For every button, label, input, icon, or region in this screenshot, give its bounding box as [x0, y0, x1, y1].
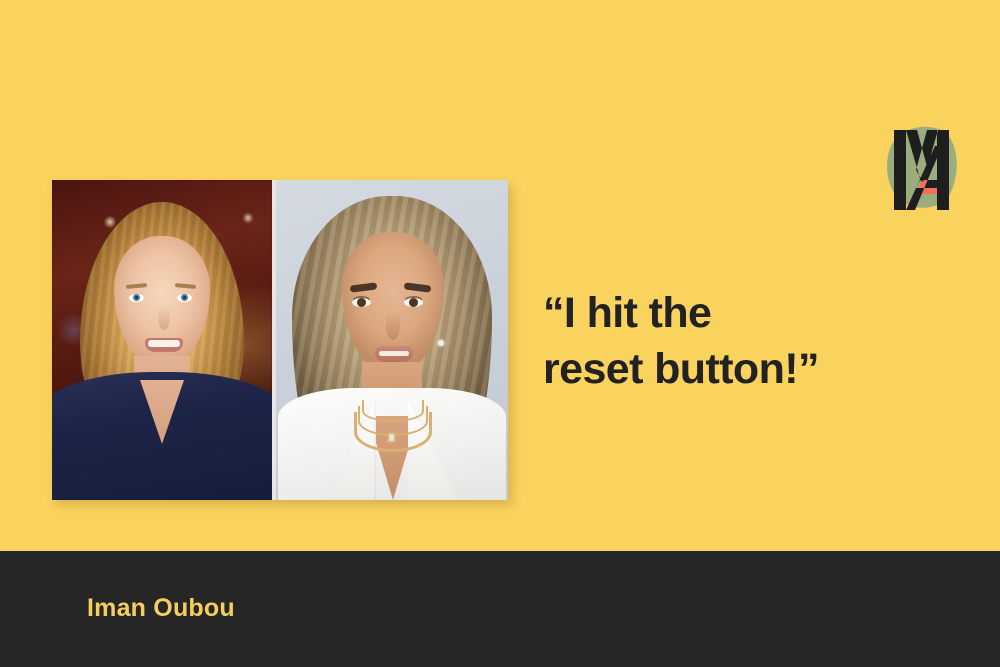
portrait-right-iris: [409, 298, 418, 307]
portrait-left-nose: [158, 306, 170, 330]
portrait-left: [52, 180, 272, 500]
portrait-right-lips: [375, 346, 413, 362]
quote-text: “I hit the reset button!”: [543, 286, 943, 398]
portrait-left-iris: [133, 294, 140, 301]
portrait-panel: [52, 180, 508, 500]
portrait-left-iris: [181, 294, 188, 301]
portrait-left-teeth: [148, 340, 180, 347]
quote-slide: “I hit the reset button!” Iman Oubou: [0, 0, 1000, 667]
portrait-right: [276, 180, 508, 500]
speaker-name: Iman Oubou: [87, 594, 235, 623]
ma-monogram-logo: [880, 118, 964, 218]
portrait-right-iris: [357, 298, 366, 307]
portrait-right-earring: [438, 340, 444, 346]
portrait-right-nose: [386, 312, 400, 340]
portrait-right-pendant: [387, 432, 396, 443]
